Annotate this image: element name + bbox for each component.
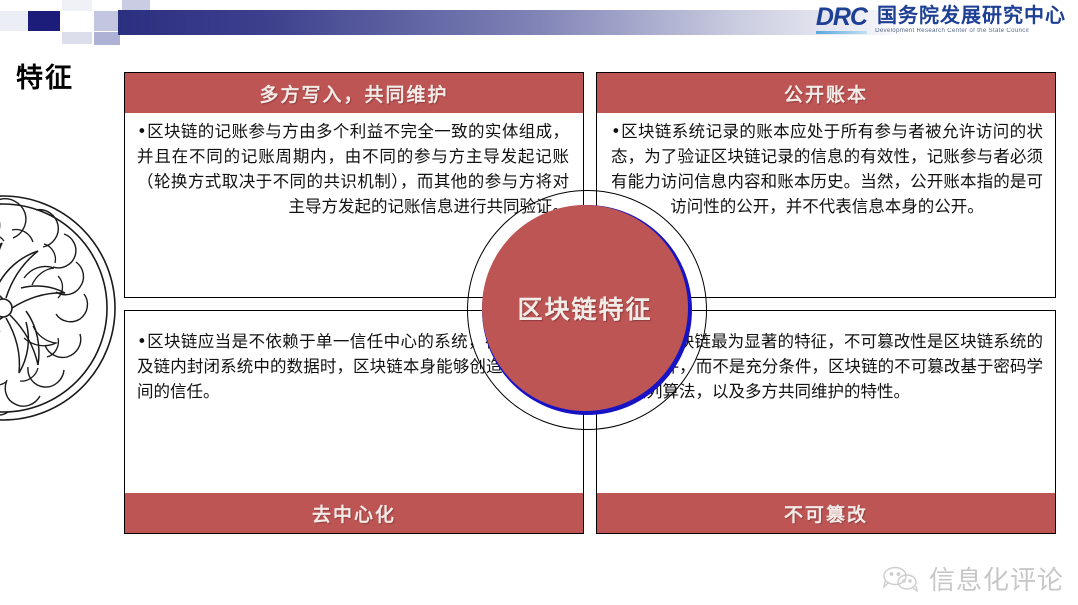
header-square-navy [28, 11, 60, 31]
header-square-mid [94, 11, 120, 31]
page-title: 特征 [16, 56, 74, 95]
center-circle-fill: 区块链特征 [482, 205, 688, 411]
panel-top-right-body: •区块链系统记录的账本应处于所有参与者被允许访问的状态，为了验证区块链记录的信息… [597, 115, 1055, 219]
header-square-white [94, 0, 120, 10]
logo-abbrev-text: DRC [816, 5, 867, 34]
center-circle: 区块链特征 [482, 205, 692, 415]
chinese-floral-medallion-icon [0, 138, 118, 478]
panel-top-left-body: •区块链的记账参与方由多个利益不完全一致的实体组成，并且在不同的记账周期内，由不… [125, 115, 583, 219]
logo-english-name: Development Research Center of the State… [875, 28, 1068, 34]
header-square-light-bottom [62, 32, 92, 44]
slide-canvas: DRC 国务院发展研究中心 Development Research Cente… [0, 0, 1078, 605]
panel-bottom-left-header: 去中心化 [125, 493, 583, 533]
panel-bottom-right-header: 不可篡改 [597, 493, 1055, 533]
wechat-bubble-icon [881, 565, 921, 593]
watermark-text: 信息化评论 [929, 560, 1064, 597]
logo-chinese-name: 国务院发展研究中心 [877, 5, 1066, 26]
drc-logo: DRC 国务院发展研究中心 Development Research Cente… [816, 5, 1066, 34]
header-square-light-top [62, 0, 92, 11]
header-square-mid-lower [94, 32, 120, 45]
watermark: 信息化评论 [881, 560, 1064, 597]
header-square-upper-accent [122, 0, 150, 10]
panel-top-right-header: 公开账本 [597, 73, 1055, 113]
header-square-pale-left [0, 11, 28, 31]
center-circle-label: 区块链特征 [517, 290, 652, 326]
panel-top-left-header: 多方写入，共同维护 [125, 73, 583, 113]
header-gradient-bar [118, 10, 908, 35]
slide-header: DRC 国务院发展研究中心 Development Research Cente… [0, 0, 1078, 46]
